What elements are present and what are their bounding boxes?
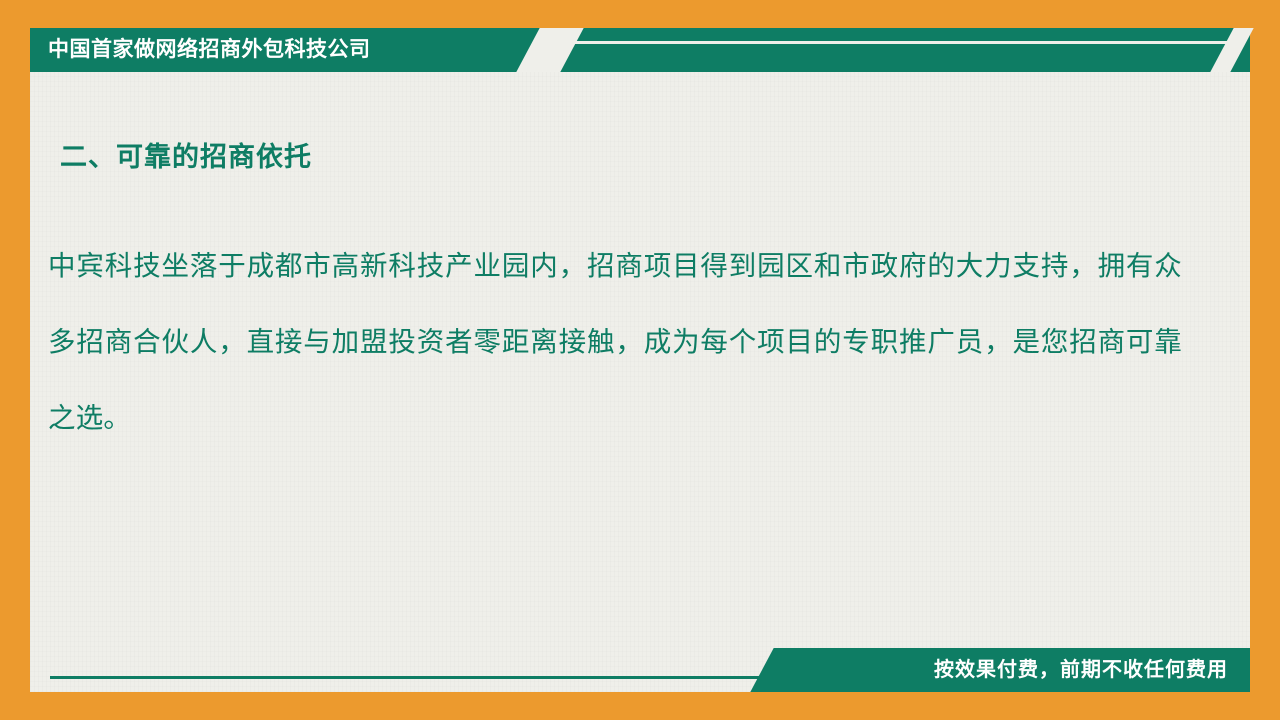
footer-accent-line [50, 676, 766, 679]
slide: 中国首家做网络招商外包科技公司 二、可靠的招商依托 中宾科技坐落于成都市高新科技… [0, 0, 1280, 720]
body-paragraph: 中宾科技坐落于成都市高新科技产业园内，招商项目得到园区和市政府的大力支持，拥有众… [48, 228, 1182, 456]
footer-text: 按效果付费，前期不收任何费用 [934, 648, 1228, 692]
slide-header: 中国首家做网络招商外包科技公司 [30, 28, 1250, 72]
section-heading: 二、可靠的招商依托 [60, 135, 312, 174]
slide-footer: 按效果付费，前期不收任何费用 [30, 648, 1250, 692]
header-title: 中国首家做网络招商外包科技公司 [48, 28, 371, 72]
header-accent-line [570, 41, 1242, 44]
